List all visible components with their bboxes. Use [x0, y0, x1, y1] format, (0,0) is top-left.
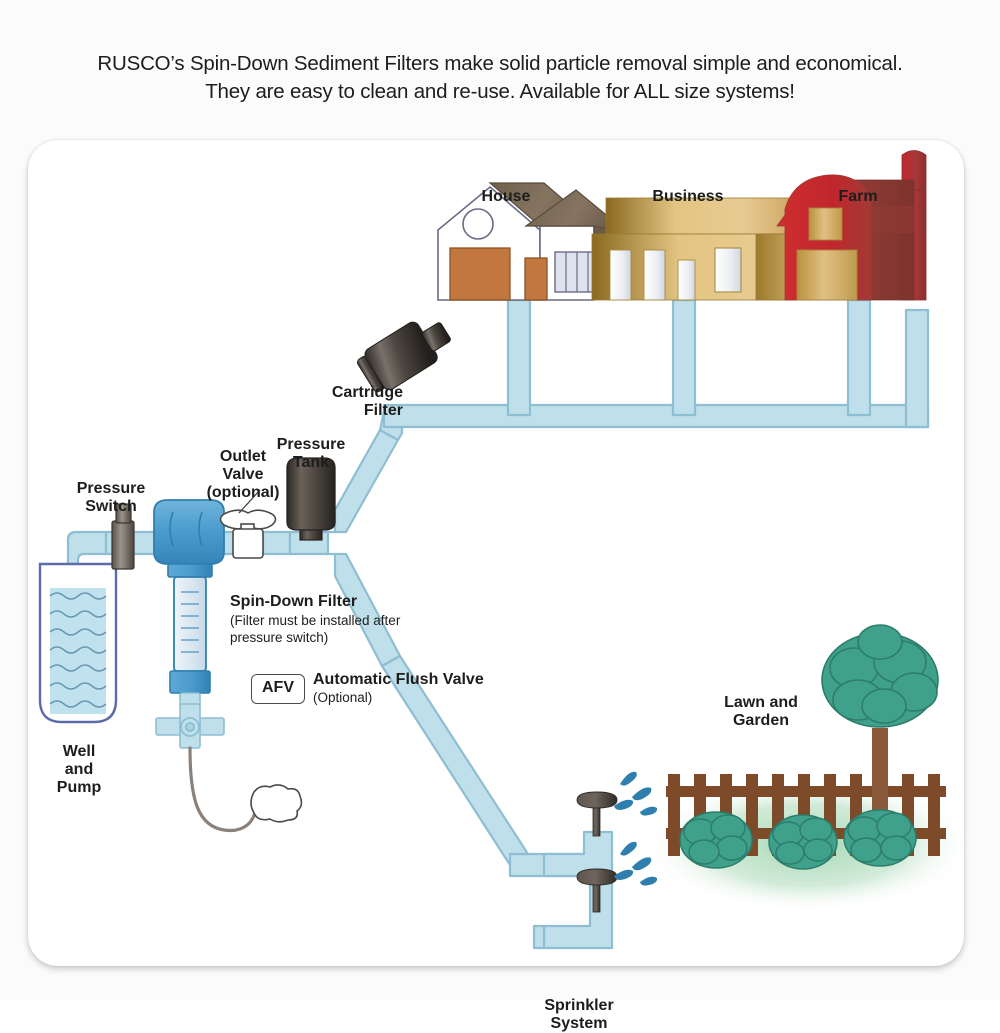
label-outlet-valve-line1: Outlet: [207, 448, 280, 466]
well-and-pump[interactable]: [40, 564, 116, 722]
house-gable-window: [463, 209, 493, 239]
label-well-line3: Pump: [57, 779, 101, 797]
filter-bowl-base: [170, 671, 210, 693]
label-farm: Farm: [838, 188, 877, 206]
afv-cross-hub-inner: [186, 723, 194, 731]
label-lawn-and-garden: Lawn and Garden: [724, 694, 798, 730]
farm-building[interactable]: [777, 151, 926, 301]
label-house: House: [482, 188, 531, 206]
label-cartridge-filter-line1: Cartridge: [332, 384, 403, 402]
label-sprinkler-system: Sprinkler System: [544, 997, 613, 1033]
spin-down-filter[interactable]: [154, 500, 224, 707]
filter-collar: [168, 564, 212, 577]
well-water: [50, 588, 106, 714]
filter-screen-bowl: [174, 577, 206, 671]
label-pressure-tank-line1: Pressure: [277, 436, 346, 454]
automatic-flush-valve[interactable]: [156, 704, 301, 830]
label-pressure-switch-line2: Switch: [77, 498, 146, 516]
page-title: RUSCO’s Spin-Down Sediment Filters make …: [0, 50, 1000, 106]
label-outlet-valve-line2: Valve: [207, 466, 280, 484]
system-diagram-svg: [28, 140, 964, 966]
pipe-sprinkler-bracket: [544, 832, 612, 948]
label-well-line1: Well: [57, 743, 101, 761]
garden-shrubs: [680, 810, 916, 869]
afv-valve-body: [251, 785, 301, 822]
label-lawn-line1: Lawn and: [724, 694, 798, 712]
label-pressure-switch: Pressure Switch: [77, 480, 146, 516]
business-window-1: [610, 250, 631, 300]
outlet-valve-body: [233, 529, 263, 558]
afv-badge[interactable]: AFV: [251, 674, 305, 704]
farm-barn-door: [797, 250, 857, 300]
business-window-3: [715, 248, 741, 292]
pipe-riser-farm: [848, 300, 870, 415]
label-automatic-flush-valve: Automatic Flush Valve: [313, 671, 484, 689]
label-well-line2: and: [57, 761, 101, 779]
label-outlet-valve: Outlet Valve (optional): [207, 448, 280, 502]
house-garage-door: [450, 248, 510, 300]
label-outlet-valve-line3: (optional): [207, 484, 280, 502]
spin-down-note-line1: (Filter must be installed after: [230, 613, 400, 630]
label-cartridge-filter-line2: Filter: [332, 402, 403, 420]
pipe-riser-house: [508, 300, 530, 415]
label-cartridge-filter: Cartridge Filter: [332, 384, 403, 420]
diagram-card: House Business Farm Cartridge Filter Out…: [28, 140, 964, 966]
garden-shrub-2: [769, 815, 837, 869]
label-spin-down-filter-note: (Filter must be installed after pressure…: [230, 613, 400, 646]
farm-hayloft-window: [809, 208, 842, 240]
spin-down-note-line2: pressure switch): [230, 630, 400, 647]
filter-head: [154, 500, 224, 564]
diagram-stage: House Business Farm Cartridge Filter Out…: [28, 140, 964, 966]
business-entry-door: [678, 260, 695, 300]
sprinkler-head-upper: [577, 792, 617, 836]
afv-hose: [190, 748, 256, 830]
label-sprinkler-line2: System: [544, 1015, 613, 1033]
business-window-2: [644, 250, 665, 300]
header-line-2: They are easy to clean and re-use. Avail…: [0, 78, 1000, 106]
label-pressure-switch-line1: Pressure: [77, 480, 146, 498]
garden-shrub-1: [680, 812, 752, 868]
label-business: Business: [652, 188, 723, 206]
pipe-outletvalve-to-tank: [263, 532, 290, 554]
pipe-upper-main-horizontal: [384, 405, 928, 427]
label-pressure-tank-line2: Tank: [277, 454, 346, 472]
pipe-right-vertical: [906, 310, 928, 427]
label-automatic-flush-valve-sub: (Optional): [313, 690, 372, 707]
label-spin-down-filter: Spin-Down Filter: [230, 593, 357, 611]
pipe-riser-business: [673, 300, 695, 415]
garden-shrub-3: [844, 810, 916, 866]
lawn-and-garden[interactable]: [643, 625, 964, 913]
header-line-1: RUSCO’s Spin-Down Sediment Filters make …: [0, 50, 1000, 78]
label-well-and-pump: Well and Pump: [57, 743, 101, 797]
sprinkler-spray-upper: [614, 772, 657, 816]
pipe-sprinkler-stub-lower: [534, 926, 544, 948]
page-background: RUSCO’s Spin-Down Sediment Filters make …: [0, 0, 1000, 1000]
label-lawn-line2: Garden: [724, 712, 798, 730]
house-front-door: [525, 258, 547, 300]
label-pressure-tank: Pressure Tank: [277, 436, 346, 472]
